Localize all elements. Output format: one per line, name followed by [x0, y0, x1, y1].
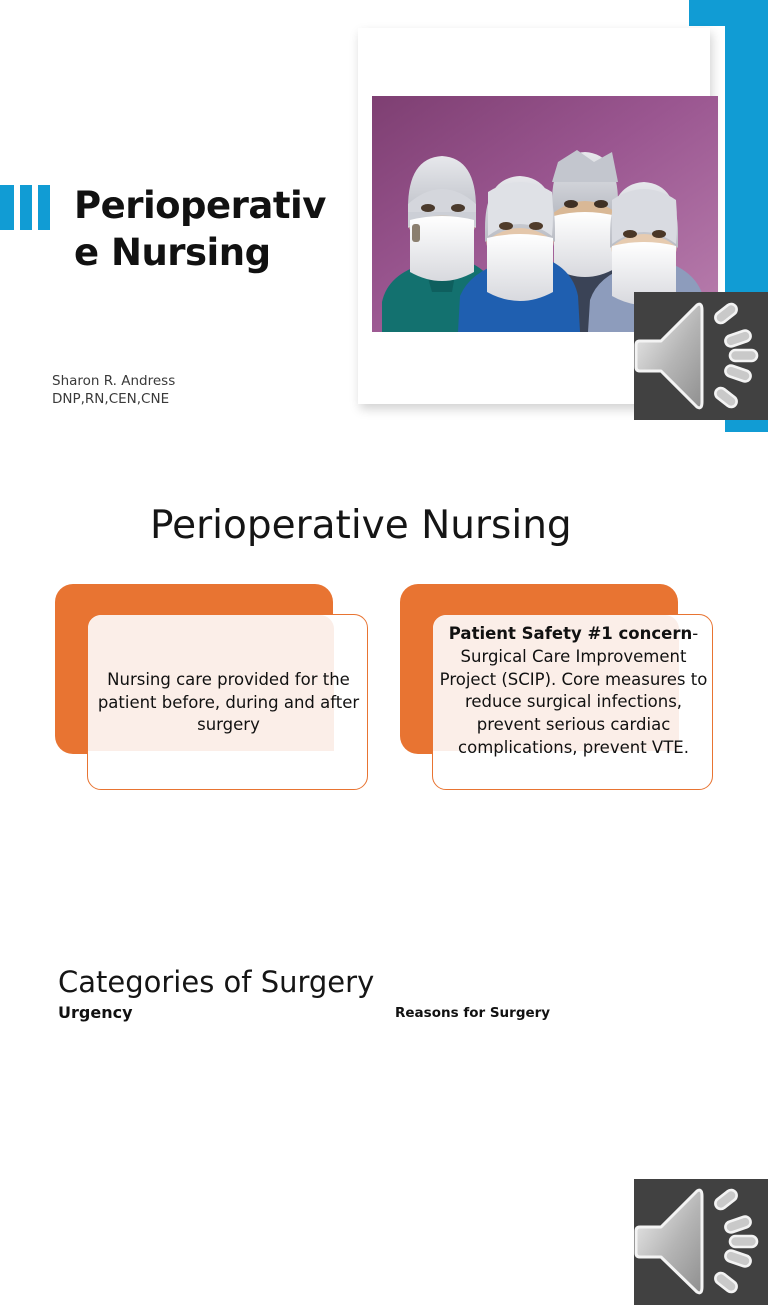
card-lead-text: Patient Safety #1 concern — [449, 624, 692, 643]
card-body: Nursing care provided for the patient be… — [87, 614, 368, 790]
blue-bar-1 — [0, 185, 14, 230]
slide-heading: Perioperative Nursing — [150, 503, 572, 548]
categories-of-surgery-slide: Categories of Surgery Urgency Reasons fo… — [0, 886, 768, 1024]
column-header-urgency: Urgency — [58, 1003, 133, 1022]
slide-heading: Categories of Surgery — [58, 965, 374, 999]
blue-bar-3 — [38, 185, 50, 230]
column-header-reasons: Reasons for Surgery — [395, 1005, 550, 1021]
card-body: Patient Safety #1 concern- Surgical Care… — [432, 614, 713, 790]
blue-bar-2 — [20, 185, 32, 230]
speaker-icon[interactable] — [634, 1179, 768, 1305]
perioperative-nursing-slide: Perioperative Nursing Nursing care provi… — [0, 446, 768, 886]
card-body-text: - Surgical Care Improvement Project (SCI… — [440, 624, 708, 757]
author-byline: Sharon R. Andress DNP,RN,CEN,CNE — [52, 373, 175, 409]
presentation-title: Perioperative Nursing — [74, 183, 336, 277]
blue-bars-decoration — [0, 185, 50, 230]
speaker-icon[interactable] — [634, 292, 768, 420]
card-text: Patient Safety #1 concern- Surgical Care… — [433, 615, 714, 791]
blue-accent-bar-horizontal — [689, 0, 725, 26]
title-block: Perioperative Nursing — [74, 183, 336, 277]
title-slide: Perioperative Nursing Sharon R. Andress … — [0, 0, 768, 446]
author-credentials: DNP,RN,CEN,CNE — [52, 391, 175, 409]
author-name: Sharon R. Andress — [52, 373, 175, 391]
card-text: Nursing care provided for the patient be… — [88, 615, 369, 791]
